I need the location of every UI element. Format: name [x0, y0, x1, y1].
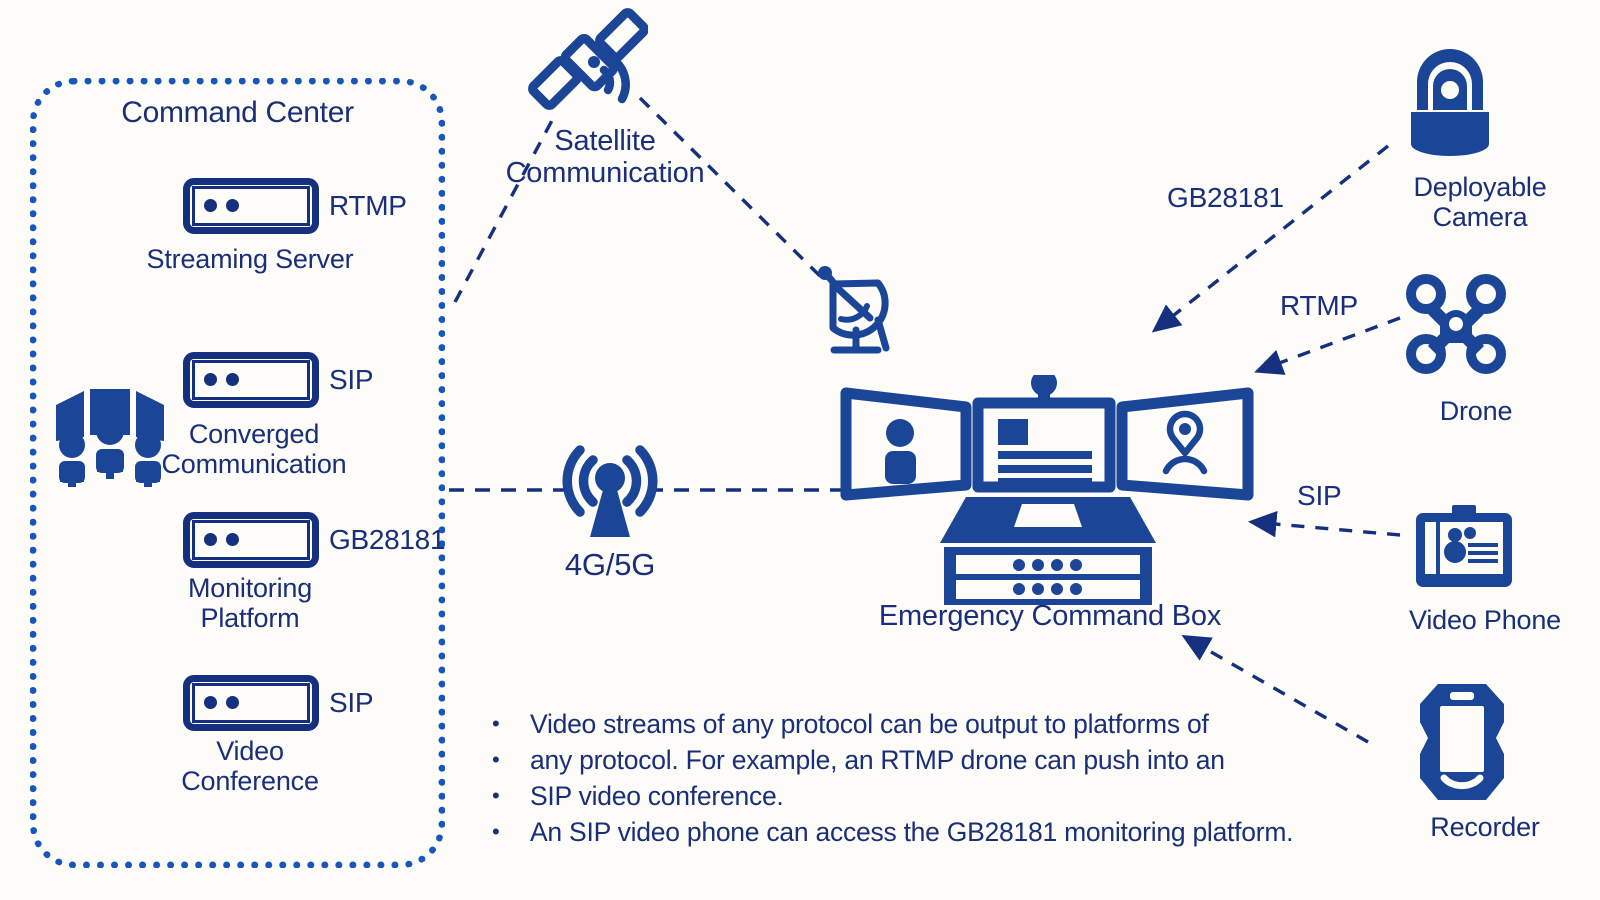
drone-icon[interactable]: [1404, 272, 1508, 381]
ptz-camera-icon[interactable]: [1397, 48, 1503, 161]
satellite-label: Satellite Communication: [455, 125, 755, 190]
server-icon: [183, 178, 319, 234]
emergency-command-box-icon[interactable]: [838, 375, 1263, 610]
recorder-label: Recorder: [1375, 812, 1595, 842]
deployable-camera-label: Deployable Camera: [1370, 172, 1590, 232]
link-videophone-box: [1252, 522, 1400, 535]
note-text: Video streams of any protocol can be out…: [530, 706, 1372, 742]
video-phone-icon[interactable]: [1412, 505, 1516, 594]
cellular-label: 4G/5G: [510, 548, 710, 583]
link-drone-box: [1258, 318, 1400, 371]
streaming-server-label: Streaming Server: [60, 244, 440, 274]
protocol-label-gb28181: GB28181: [329, 524, 445, 556]
note-text: any protocol. For example, an RTMP drone…: [530, 742, 1372, 778]
drone-label: Drone: [1376, 396, 1576, 426]
converged-communication-node[interactable]: SIP: [183, 352, 373, 408]
recorder-icon[interactable]: [1412, 678, 1512, 811]
video-conference-node[interactable]: SIP: [183, 675, 373, 731]
protocol-label-videophone: SIP: [1297, 480, 1342, 512]
video-conference-label: Video Conference: [70, 736, 430, 796]
bullet-marker: •: [492, 814, 530, 850]
list-item: • An SIP video phone can access the GB28…: [492, 814, 1372, 850]
monitoring-platform-label: Monitoring Platform: [70, 573, 430, 633]
bullet-marker: •: [492, 706, 530, 742]
bullet-marker: •: [492, 742, 530, 778]
diagram-canvas: Command Center RTMP Streaming Server: [0, 0, 1600, 900]
note-text: An SIP video phone can access the GB2818…: [530, 814, 1372, 850]
satellite-dish-icon: [808, 262, 904, 363]
cell-tower-icon: [560, 436, 660, 551]
list-item: • SIP video conference.: [492, 778, 1372, 814]
list-item: • any protocol. For example, an RTMP dro…: [492, 742, 1372, 778]
protocol-label-rtmp: RTMP: [329, 190, 407, 222]
satellite-icon: [528, 8, 648, 125]
command-center-title: Command Center: [30, 96, 445, 130]
protocol-label-sip: SIP: [329, 364, 373, 396]
protocol-label-sip-2: SIP: [329, 687, 373, 719]
streaming-server-node[interactable]: RTMP: [183, 178, 407, 234]
bullet-marker: •: [492, 778, 530, 814]
server-icon: [183, 352, 319, 408]
video-phone-label: Video Phone: [1370, 605, 1600, 635]
note-text: SIP video conference.: [530, 778, 1372, 814]
server-icon: [183, 675, 319, 731]
protocol-label-camera: GB28181: [1167, 182, 1284, 214]
emergency-command-box-label: Emergency Command Box: [830, 600, 1270, 632]
notes-list: • Video streams of any protocol can be o…: [492, 706, 1372, 850]
converged-communication-label: Converged Communication: [76, 419, 432, 479]
protocol-label-drone: RTMP: [1280, 290, 1358, 322]
monitoring-platform-node[interactable]: GB28181: [183, 512, 445, 568]
server-icon: [183, 512, 319, 568]
list-item: • Video streams of any protocol can be o…: [492, 706, 1372, 742]
